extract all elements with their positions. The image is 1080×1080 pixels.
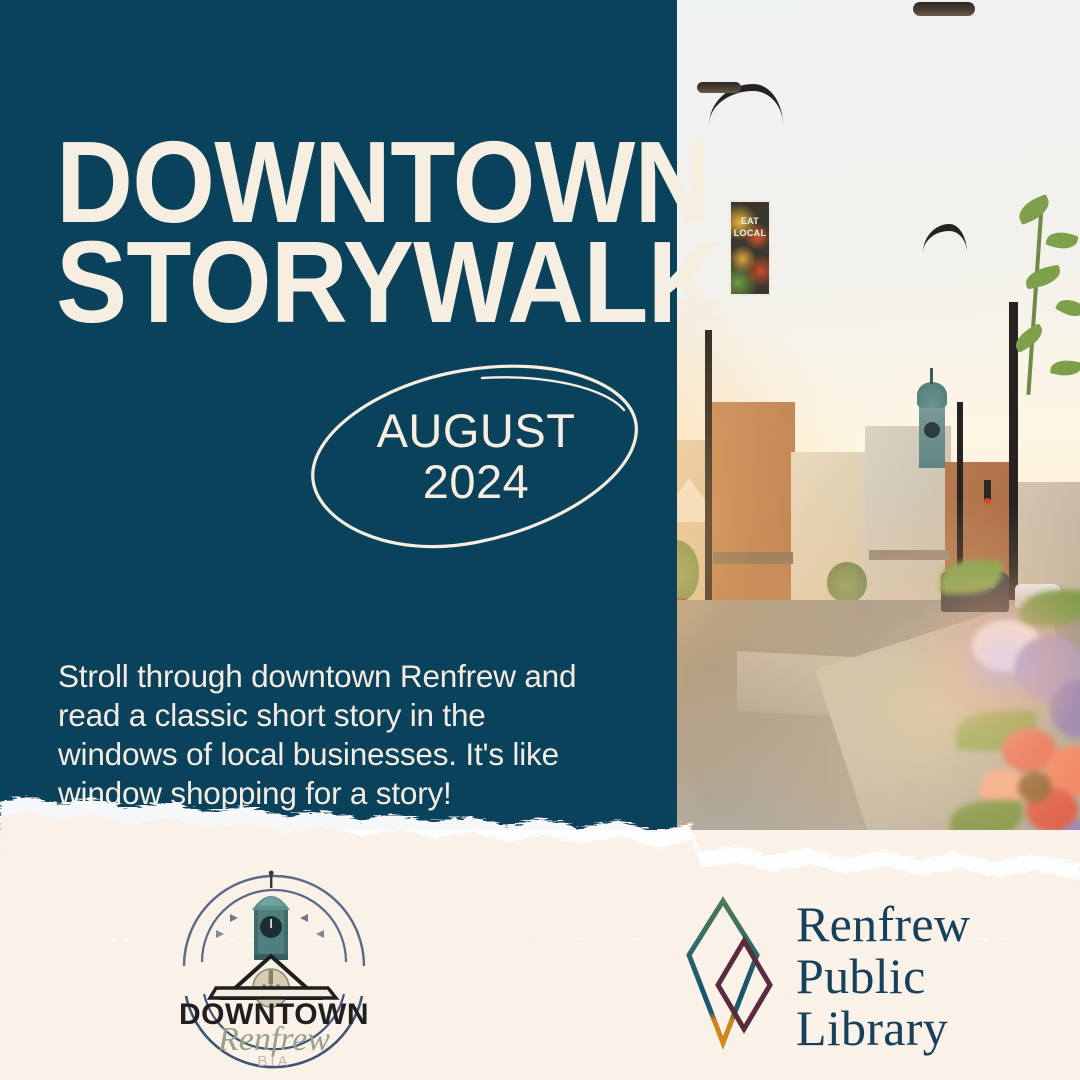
traffic-light-red	[984, 498, 991, 504]
banner-text-line-2: LOCAL	[731, 228, 769, 238]
date-month: AUGUST	[377, 404, 576, 457]
clock-tower-icon	[252, 871, 290, 960]
downtown-renfrew-bia-logo: DOWNTOWN Renfrew BIA	[168, 870, 380, 1070]
street-lamp-head	[697, 82, 741, 93]
poster-canvas: EAT LOCAL	[0, 0, 1080, 1080]
street-lamp-post	[705, 330, 712, 602]
overhead-lamp-head	[913, 2, 975, 16]
clock-tower	[915, 370, 949, 468]
rpl-line-2: Public	[796, 950, 970, 1002]
shrub	[827, 562, 867, 602]
foliage	[940, 560, 1002, 594]
renfrew-public-library-logo: Renfrew Public Library	[686, 893, 986, 1058]
logo-accent-triangle	[316, 930, 324, 938]
street-photo-inner: EAT LOCAL	[677, 0, 1080, 860]
page-title: DOWNTOWN STORYWALK	[56, 133, 608, 333]
diamond-mark-icon	[686, 893, 782, 1058]
foliage	[1020, 590, 1080, 626]
logo-roof-wing	[210, 988, 336, 998]
date-text: AUGUST 2024	[306, 406, 646, 508]
logo-accent-triangle	[300, 914, 308, 922]
logo-accent-triangle	[216, 930, 224, 938]
street-photo: EAT LOCAL	[677, 0, 1080, 860]
bia-logo-word-bottom: BIA	[257, 1053, 290, 1070]
rpl-line-1: Renfrew	[796, 898, 970, 950]
date-year: 2024	[306, 457, 646, 508]
eat-local-banner: EAT LOCAL	[729, 200, 771, 296]
date-badge: AUGUST 2024	[306, 362, 646, 554]
banner-text-line-1: EAT	[731, 216, 769, 226]
clock-face	[924, 422, 940, 438]
poster-top-section: EAT LOCAL	[0, 0, 1080, 860]
bia-logo-graphic: DOWNTOWN Renfrew BIA	[168, 870, 380, 1070]
rpl-wordmark: Renfrew Public Library	[796, 898, 970, 1054]
awning	[713, 552, 793, 564]
logo-accent-triangle	[230, 914, 238, 922]
rpl-line-3: Library	[796, 1002, 970, 1054]
title-line-2: STORYWALK	[56, 233, 608, 333]
clock-tower-spire	[930, 368, 933, 384]
building-4	[709, 402, 795, 602]
clock-tower-dome	[917, 382, 947, 408]
